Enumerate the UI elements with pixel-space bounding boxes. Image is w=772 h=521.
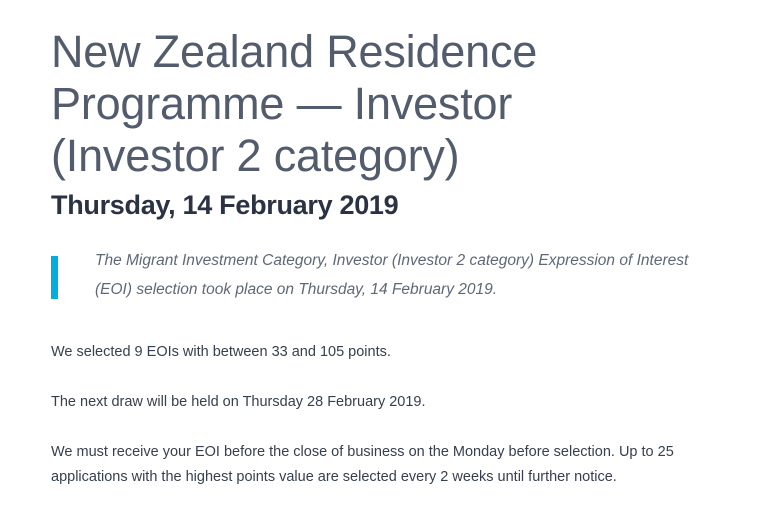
content-column: New Zealand Residence Programme — Invest…	[51, 0, 691, 490]
body-paragraph-selection-summary: We selected 9 EOIs with between 33 and 1…	[51, 340, 679, 365]
body-paragraph-next-draw: The next draw will be held on Thursday 2…	[51, 390, 679, 415]
page-root: New Zealand Residence Programme — Invest…	[0, 0, 772, 521]
body-content: We selected 9 EOIs with between 33 and 1…	[51, 304, 691, 490]
page-subtitle-date: Thursday, 14 February 2019	[51, 182, 691, 222]
accent-bar	[51, 256, 58, 299]
page-title: New Zealand Residence Programme — Invest…	[51, 0, 691, 182]
body-paragraph-eoi-deadline: We must receive your EOI before the clos…	[51, 440, 679, 490]
lede-blockquote: The Migrant Investment Category, Investo…	[51, 222, 691, 304]
lede-text: The Migrant Investment Category, Investo…	[95, 246, 691, 304]
